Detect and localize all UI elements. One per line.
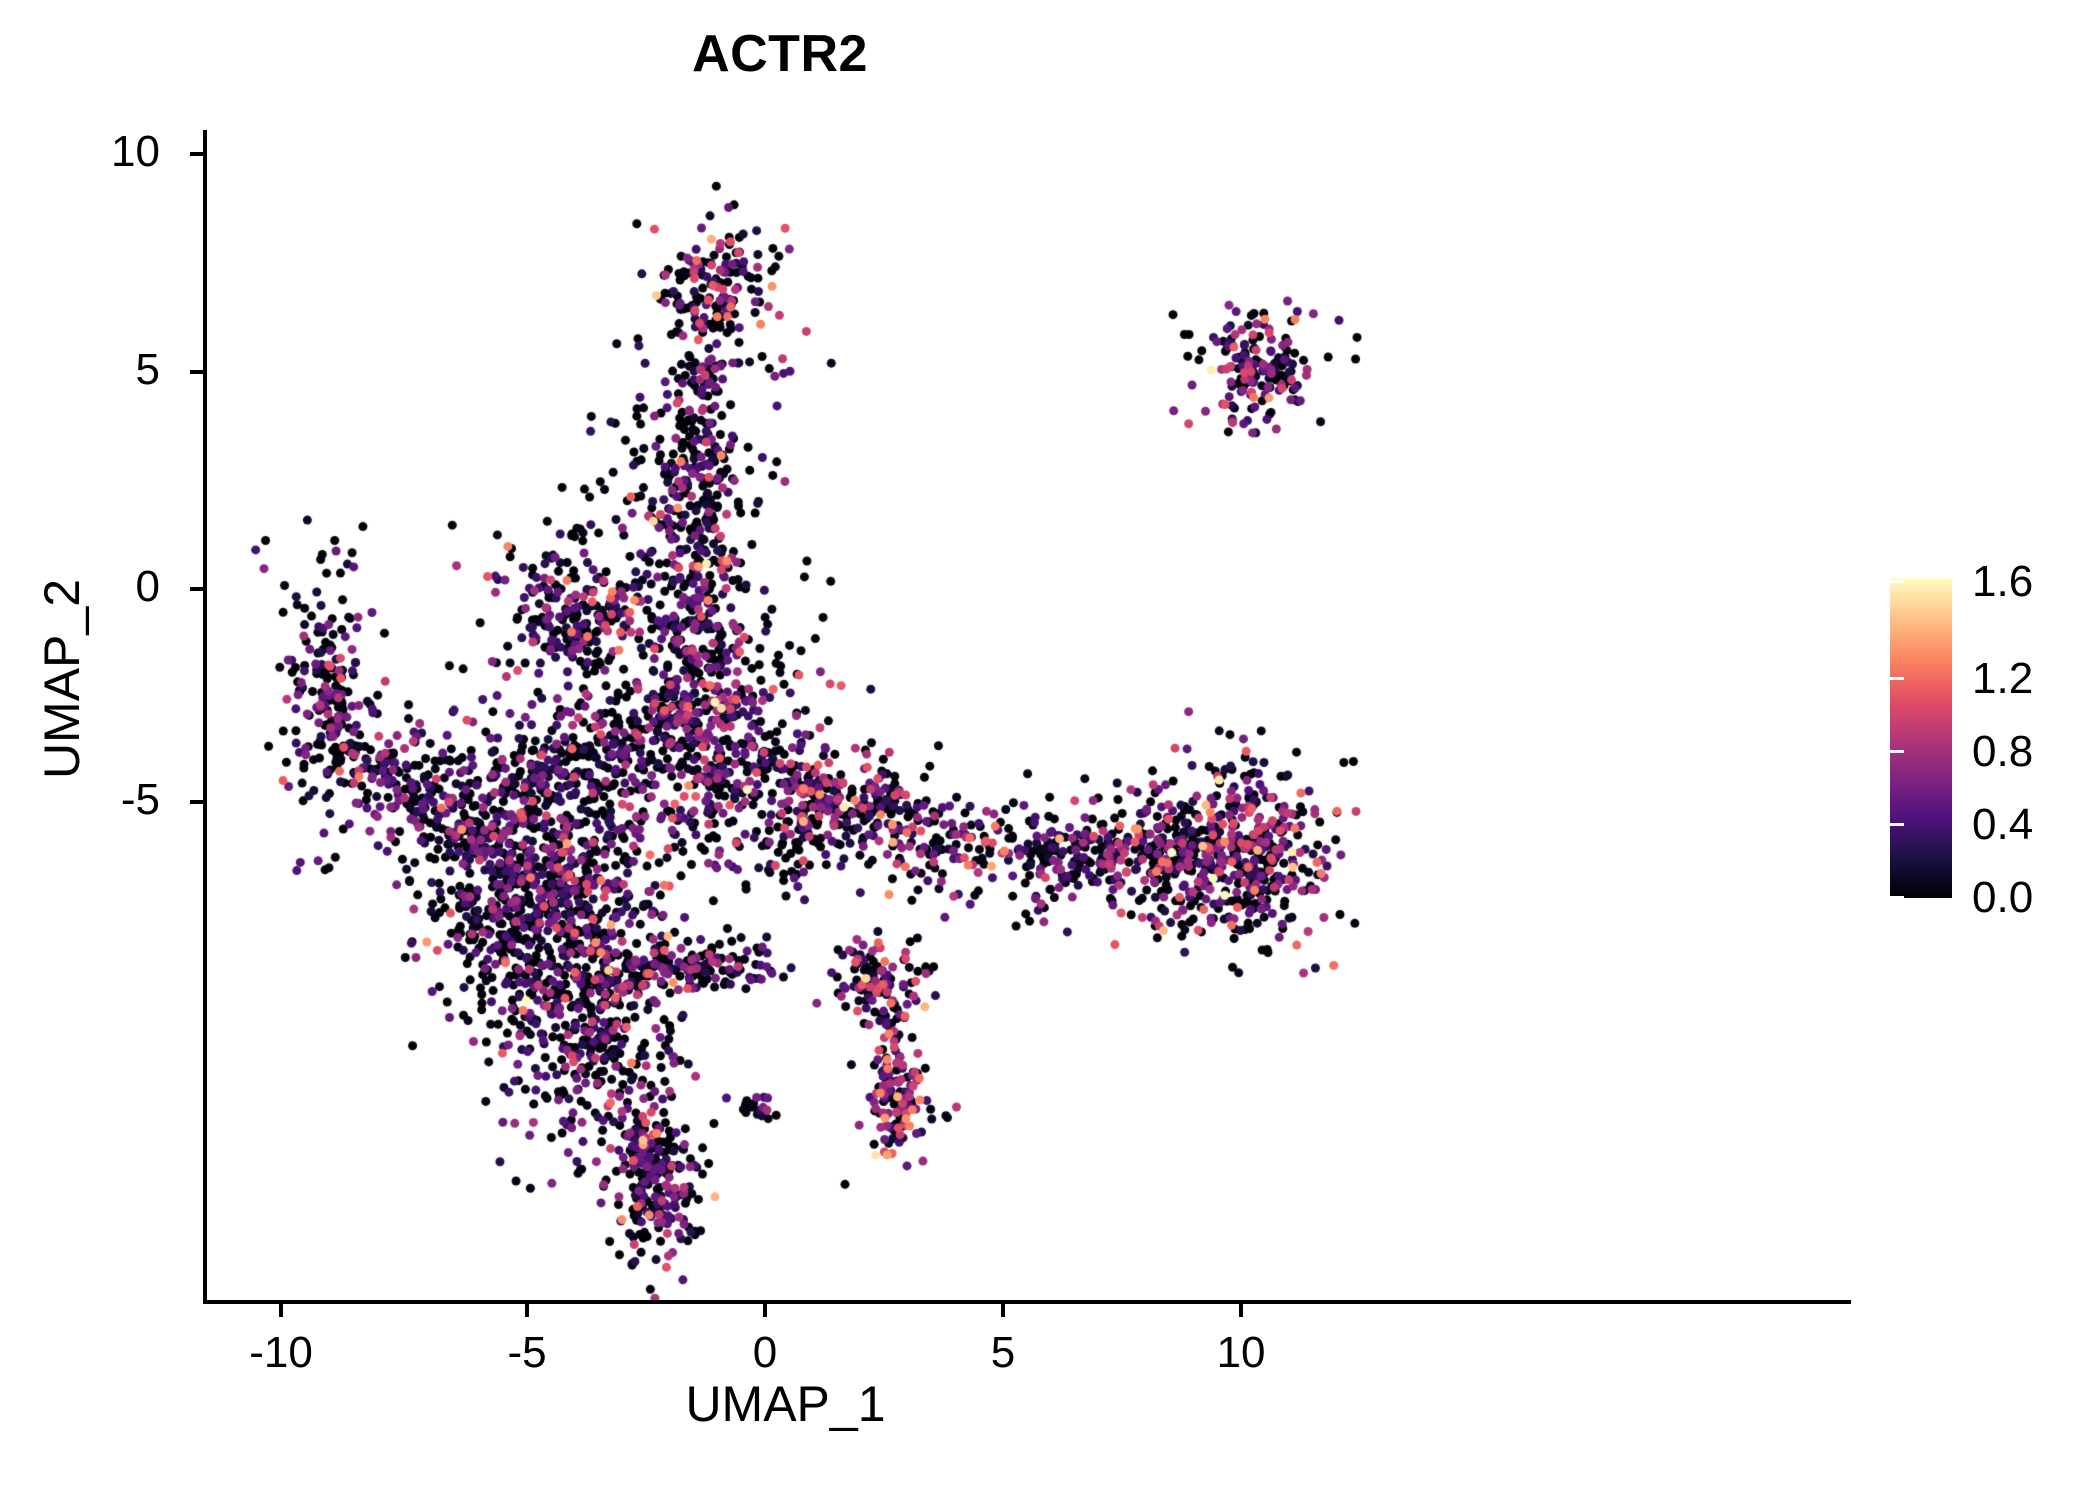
colorbar-tick-1.6-right [2076, 580, 2090, 583]
x-axis-line [203, 1300, 1851, 1304]
umap-scatter-plot [205, 130, 1370, 1302]
figure-root: ACTR2 10 5 0 -5 -10 -5 0 5 10 UMAP_1 UMA… [0, 0, 2100, 1500]
colorbar-tick-1.6-left [1890, 580, 1904, 583]
x-axis-tick-label--10: -10 [249, 1328, 313, 1378]
y-axis-line [203, 130, 207, 1304]
x-axis-tick-label-5: 5 [991, 1328, 1015, 1378]
x-axis-tick-5 [1001, 1300, 1005, 1317]
y-axis-tick--5 [190, 800, 207, 804]
x-axis-title: UMAP_1 [203, 1375, 1368, 1433]
scatter-panel [205, 130, 1370, 1302]
colorbar-tick-0.8-left [1890, 750, 1904, 753]
y-axis-title: UMAP_2 [33, 329, 91, 1029]
x-axis-tick--5 [525, 1300, 529, 1317]
x-axis-tick-label-10: 10 [1217, 1328, 1266, 1378]
colorbar-tick-0.0-left [1890, 896, 1904, 899]
color-legend: 0.0 0.4 0.8 1.2 1.6 [1890, 578, 2090, 900]
y-axis-tick-5 [190, 370, 207, 374]
x-axis-tick-10 [1239, 1300, 1243, 1317]
x-axis-tick-label-0: 0 [753, 1328, 777, 1378]
page-title: ACTR2 [0, 24, 1560, 84]
colorbar-tick-0.4-left [1890, 823, 1904, 826]
x-axis-tick--10 [279, 1300, 283, 1317]
colorbar-label-0.4: 0.4 [1972, 800, 2033, 850]
colorbar-tick-0.8-right [2076, 750, 2090, 753]
y-axis-tick-label-10: 10 [0, 127, 160, 177]
colorbar-tick-0.0-right [2076, 896, 2090, 899]
colorbar-gradient [1890, 578, 1952, 898]
x-axis-tick-0 [763, 1300, 767, 1317]
colorbar-tick-0.4-right [2076, 823, 2090, 826]
colorbar-tick-1.2-left [1890, 677, 1904, 680]
y-axis-tick-0 [190, 587, 207, 591]
colorbar-label-0.0: 0.0 [1972, 873, 2033, 923]
colorbar-label-1.2: 1.2 [1972, 654, 2033, 704]
colorbar-label-1.6: 1.6 [1972, 557, 2033, 607]
colorbar-label-0.8: 0.8 [1972, 727, 2033, 777]
colorbar-tick-1.2-right [2076, 677, 2090, 680]
x-axis-tick-label--5: -5 [507, 1328, 546, 1378]
y-axis-tick-10 [190, 152, 207, 156]
